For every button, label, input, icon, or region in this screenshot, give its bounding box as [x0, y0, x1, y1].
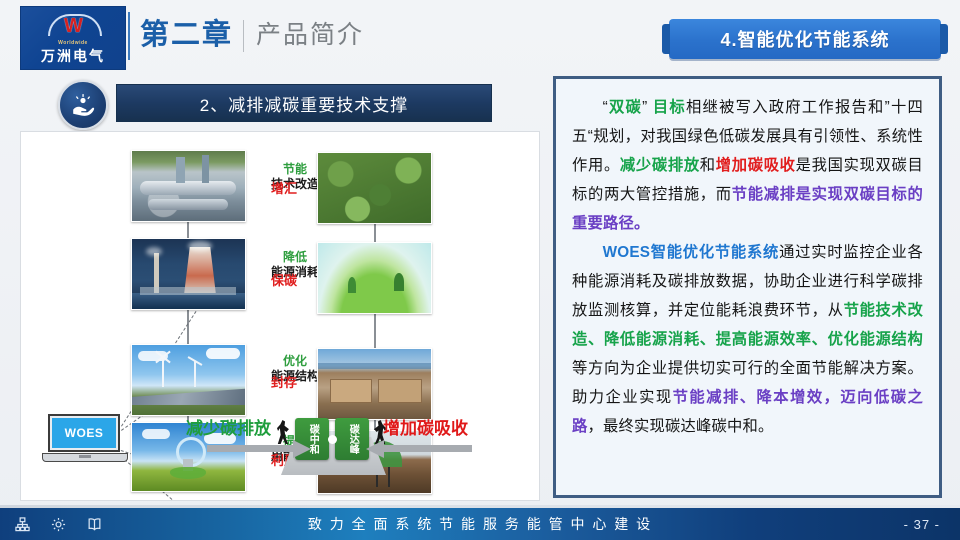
arrow-reduce-emissions — [207, 443, 313, 454]
connector-stem-right-2 — [374, 312, 376, 348]
center-block-carbon-peak: 碳达峰 — [335, 418, 369, 460]
arrow-right-head — [366, 440, 384, 458]
topic-banner-label: 4.智能优化节能系统 — [720, 26, 889, 52]
thumb-carbon-storage — [317, 348, 432, 420]
thumb-wind-solar — [131, 344, 246, 416]
panel-paragraph-1: “双碳” 目标相继被写入政府工作报告和”十四五“规划，对我国绿色低碳发展具有引领… — [572, 93, 923, 238]
laptop-screen-inner: WOES — [52, 418, 116, 448]
woes-label: WOES — [65, 426, 104, 440]
arrow-left-head — [293, 440, 311, 458]
logo-emblem-icon: W — [45, 13, 101, 39]
woes-source-node: WOES — [48, 414, 120, 462]
hand-energy-icon — [58, 80, 108, 130]
arrow-right-shaft — [384, 445, 472, 452]
label-increase-absorption: 增加碳吸收 — [383, 420, 468, 437]
thumb-forest-canopy — [317, 152, 432, 224]
slide-canvas: W Worldwide 万洲电气 第二章 产品简介 4.智能优化节能系统 2、减… — [0, 0, 960, 540]
laptop-screen: WOES — [48, 414, 120, 452]
logo-chinese-name: 万洲电气 — [41, 49, 105, 63]
thumb-power-plant — [131, 238, 246, 310]
center-block-2-label: 碳达峰 — [347, 424, 358, 454]
footer-bar: 致 力 全 面 系 统 节 能 服 务 能 管 中 心 建 设 - 37 - — [0, 508, 960, 540]
center-link-dot — [328, 435, 337, 444]
description-panel: “双碳” 目标相继被写入政府工作报告和”十四五“规划，对我国绿色低碳发展具有引领… — [553, 76, 942, 498]
label-right-2: 保碳 — [271, 270, 297, 289]
arrow-increase-absorption — [366, 443, 472, 454]
section-title-bar: 2、减排减碳重要技术支撑 — [116, 84, 492, 122]
label-right-1: 增汇 — [271, 178, 297, 197]
chapter-title: 第二章 — [140, 18, 233, 53]
label-reduce-emissions: 减少碳排放 — [186, 420, 271, 437]
label-right-3: 封存 — [271, 372, 297, 391]
logo-english-name: Worldwide — [58, 40, 88, 46]
carbon-strategy-diagram: 节能 技术改造 降低 能源消耗 优化 能源结构 — [20, 131, 540, 501]
thumb-green-hill — [317, 242, 432, 314]
footer-slogan: 致 力 全 面 系 统 节 能 服 务 能 管 中 心 建 设 — [0, 514, 960, 534]
logo-letter: W — [64, 16, 82, 36]
header-separator — [243, 20, 244, 52]
thumb-industrial-pipes — [131, 150, 246, 222]
topic-banner: 4.智能优化节能系统 — [669, 19, 941, 59]
page-subtitle: 产品简介 — [256, 20, 364, 50]
footer-page-number: - 37 - — [904, 517, 940, 532]
laptop-base — [42, 453, 128, 462]
section-title-text: 2、减排减碳重要技术支撑 — [200, 91, 408, 116]
company-logo: W Worldwide 万洲电气 — [20, 6, 126, 70]
header-accent-bar — [128, 12, 130, 60]
arrow-left-shaft — [207, 445, 295, 452]
panel-paragraph-2: WOES智能优化节能系统通过实时监控企业各种能源消耗及碳排放数据，协助企业进行科… — [572, 238, 923, 441]
